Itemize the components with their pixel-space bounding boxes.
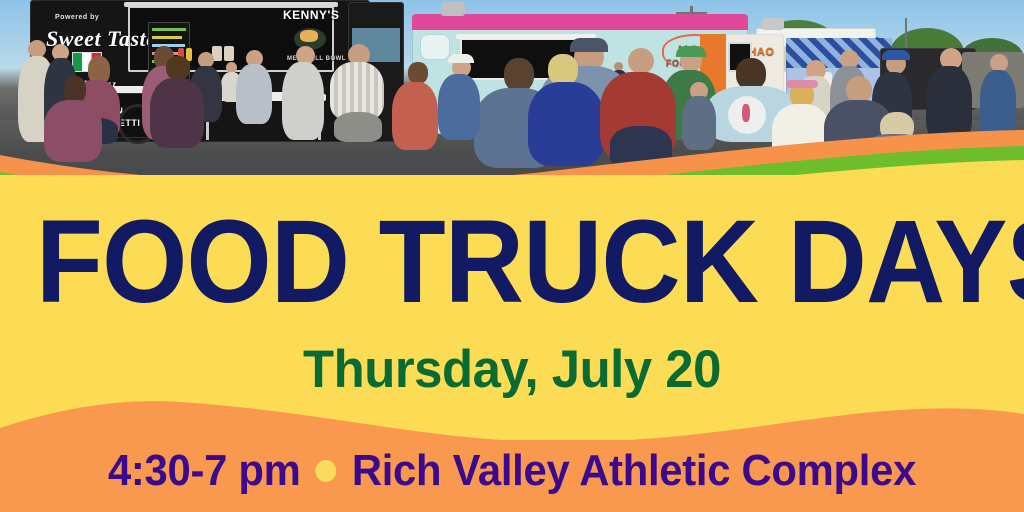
event-time-and-venue: 4:30-7 pm Rich Valley Athletic Complex [26, 448, 999, 494]
event-venue: Rich Valley Athletic Complex [352, 448, 916, 494]
food-truck-days-poster: Sweet Taste Powered by Italy KENNY'S MEA… [0, 0, 1024, 512]
yellow-dot-icon [316, 460, 337, 482]
event-time: 4:30-7 pm [108, 448, 301, 494]
truck-name-kennys: KENNY'S [283, 8, 339, 22]
crowd-person [504, 58, 534, 92]
truck-tag-powered-by: Powered by [55, 14, 99, 21]
event-date: Thursday, July 20 [20, 342, 1003, 398]
page-title: FOOD TRUCK DAYS [36, 206, 988, 318]
